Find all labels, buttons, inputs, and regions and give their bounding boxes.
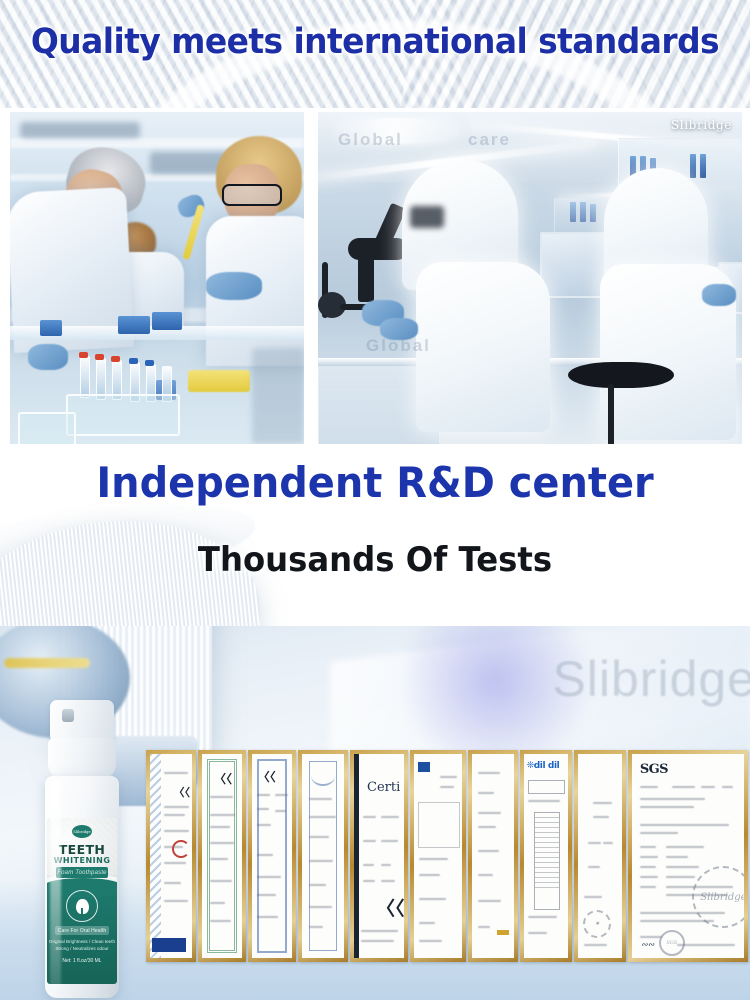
certificate-thumbnail[interactable]: 〈〈 xyxy=(198,750,246,962)
section-heading-secondary: Thousands Of Tests xyxy=(19,540,732,580)
certificate-thumbnail[interactable] xyxy=(410,750,466,962)
certificate-thumbnail[interactable]: 〈〈 xyxy=(146,750,196,962)
lab-research-photo xyxy=(10,112,304,444)
page-title: Quality meets international standards xyxy=(23,22,728,62)
top-headline-band: Quality meets international standards xyxy=(0,0,750,108)
certificate-thumbnail[interactable]: ✸ xyxy=(574,750,626,962)
bottle-neck xyxy=(48,738,116,780)
product-care-line: Care For Oral Health xyxy=(55,926,109,935)
teeth-whitening-foam-bottle[interactable]: Slibridge TEETH WHITENING Foam Toothpast… xyxy=(36,700,130,1000)
certificate-thumbnail[interactable]: Certi 〈〈 xyxy=(350,750,408,962)
photo-row: Slibridge Global care Global xyxy=(0,108,750,448)
certificate-thumbnail-sgs[interactable]: SGS xyxy=(628,750,748,962)
brand-badge: Slibridge xyxy=(72,825,92,838)
promo-page: Quality meets international standards xyxy=(0,0,750,1000)
photo-watermark: Slibridge xyxy=(671,118,732,132)
cleanroom-photo: Slibridge Global care Global xyxy=(318,112,742,444)
certificate-thumbnail[interactable] xyxy=(468,750,518,962)
mid-headline-band: Independent R&D center Thousands Of Test… xyxy=(0,448,750,626)
brand-badge-label: Slibridge xyxy=(73,830,91,834)
faint-watermark-global: Global xyxy=(338,130,403,150)
tooth-in-circle-icon xyxy=(66,890,98,922)
faint-watermark-care: care xyxy=(468,130,511,150)
faint-watermark-global-2: Global xyxy=(366,336,431,356)
bottle-gloss xyxy=(50,780,61,990)
pump-top xyxy=(50,700,114,740)
section-heading-primary: Independent R&D center xyxy=(19,458,732,507)
product-subtitle: Foam Toothpaste xyxy=(56,867,108,878)
certificate-thumbnail[interactable]: ❊dil dil xyxy=(520,750,572,962)
certificate-thumbnail[interactable]: 〈〈 xyxy=(248,750,296,962)
pump-nozzle xyxy=(62,709,74,722)
background-watermark: Slibridge xyxy=(552,650,750,708)
certification-gallery: 〈〈 〈〈 xyxy=(146,750,750,962)
certificate-thumbnail[interactable] xyxy=(298,750,348,962)
microscope-highlight xyxy=(4,658,90,668)
